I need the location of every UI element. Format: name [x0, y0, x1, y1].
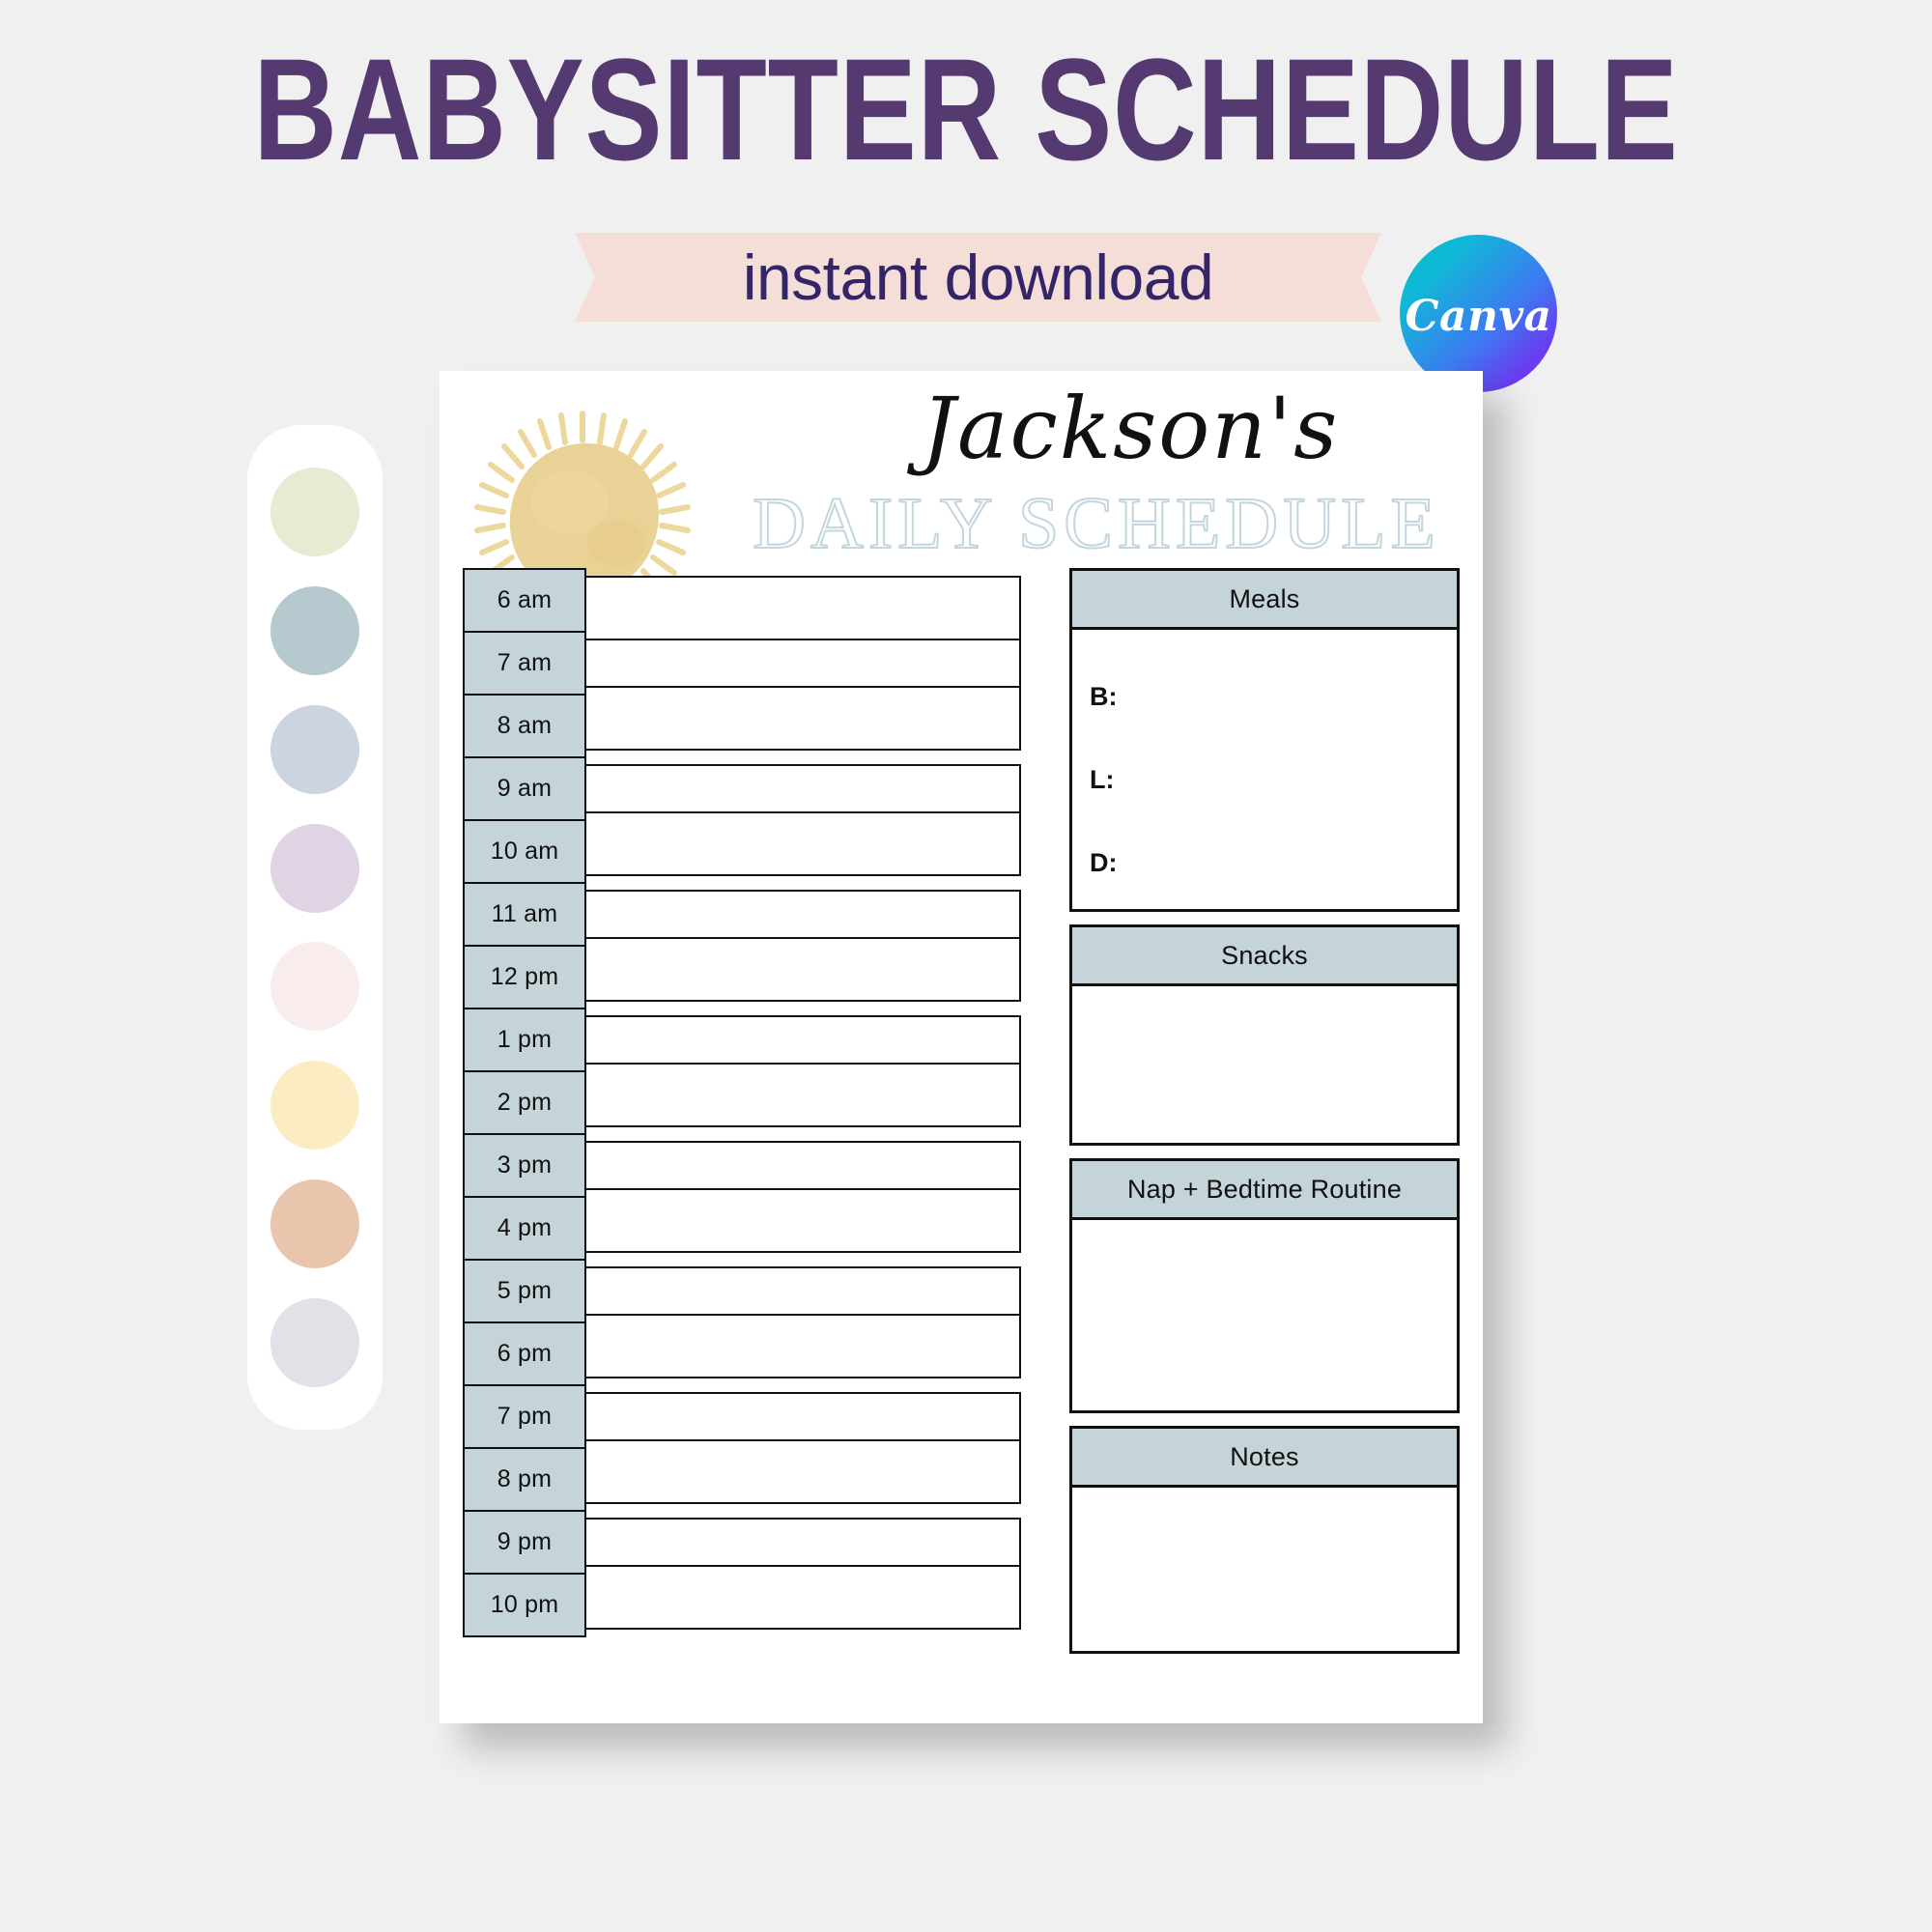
time-label: 11 am	[463, 882, 586, 947]
instant-download-label: instant download	[575, 233, 1381, 322]
color-swatch-blush-white	[270, 942, 359, 1031]
time-label: 8 pm	[463, 1447, 586, 1512]
time-label: 3 pm	[463, 1133, 586, 1198]
meal-label-breakfast: B:	[1090, 682, 1118, 712]
table-row[interactable]: 12 pm	[463, 945, 1021, 1009]
panel-header-notes: Notes	[1069, 1426, 1460, 1488]
panel-header-snacks: Snacks	[1069, 924, 1460, 986]
panel-body-snacks[interactable]	[1069, 986, 1460, 1146]
table-row[interactable]: 4 pm	[463, 1196, 1021, 1261]
time-entry-input[interactable]	[586, 937, 1021, 1002]
color-swatch-pale-sage	[270, 468, 359, 556]
canva-badge-label: Canva	[1400, 235, 1557, 392]
panel-body-notes[interactable]	[1069, 1488, 1460, 1654]
time-entry-input[interactable]	[586, 1314, 1021, 1378]
child-name-title: Jackson's	[816, 384, 1444, 473]
time-entry-input[interactable]	[586, 1439, 1021, 1504]
planner-card: Jackson's DAILY SCHEDULE 6 am 7 am 8 am …	[440, 371, 1483, 1723]
table-row[interactable]: 6 am	[463, 568, 1021, 633]
time-label: 8 am	[463, 694, 586, 758]
time-entry-input[interactable]	[586, 1188, 1021, 1253]
panel-body-meals[interactable]: B: L: D:	[1069, 630, 1460, 912]
time-entry-input[interactable]	[586, 1565, 1021, 1630]
panel-divider-gap	[1069, 1146, 1460, 1158]
time-label: 1 pm	[463, 1008, 586, 1072]
table-row[interactable]: 2 pm	[463, 1070, 1021, 1135]
listing-canvas: BABYSITTER SCHEDULE instant download Can…	[0, 0, 1932, 1932]
time-entry-input[interactable]	[586, 811, 1021, 876]
panel-header-meals: Meals	[1069, 568, 1460, 630]
color-swatch-cool-grey	[270, 1298, 359, 1387]
color-palette-strip	[247, 425, 383, 1430]
hourly-schedule-table: 6 am 7 am 8 am 9 am 10 am 11 am	[463, 568, 1021, 1635]
meal-label-dinner: D:	[1090, 848, 1118, 878]
time-label: 7 pm	[463, 1384, 586, 1449]
table-row[interactable]: 8 pm	[463, 1447, 1021, 1512]
time-label: 4 pm	[463, 1196, 586, 1261]
time-label: 2 pm	[463, 1070, 586, 1135]
color-swatch-periwinkle-grey	[270, 705, 359, 794]
page-title: BABYSITTER SCHEDULE	[193, 37, 1739, 182]
table-row[interactable]: 8 am	[463, 694, 1021, 758]
time-label: 6 pm	[463, 1321, 586, 1386]
time-label: 6 am	[463, 568, 586, 633]
color-swatch-soft-lilac	[270, 824, 359, 913]
color-swatch-warm-peach	[270, 1179, 359, 1268]
time-entry-input[interactable]	[586, 686, 1021, 751]
panel-divider-gap	[1069, 912, 1460, 924]
table-row[interactable]: 6 pm	[463, 1321, 1021, 1386]
time-label: 10 pm	[463, 1573, 586, 1637]
time-label: 5 pm	[463, 1259, 586, 1323]
time-entry-input[interactable]	[586, 1063, 1021, 1127]
meal-label-lunch: L:	[1090, 765, 1114, 795]
color-swatch-dusty-blue	[270, 586, 359, 675]
table-row[interactable]: 10 pm	[463, 1573, 1021, 1637]
time-label: 9 pm	[463, 1510, 586, 1575]
table-row[interactable]: 10 am	[463, 819, 1021, 884]
panel-body-nap-bedtime[interactable]	[1069, 1220, 1460, 1413]
panel-header-nap-bedtime: Nap + Bedtime Routine	[1069, 1158, 1460, 1220]
side-panel-stack: Meals B: L: D: Snacks Nap + Bedtime Rout…	[1069, 568, 1460, 1654]
planner-subtitle: DAILY SCHEDULE	[729, 487, 1463, 560]
time-label: 10 am	[463, 819, 586, 884]
color-swatch-butter-yellow	[270, 1061, 359, 1150]
time-label: 7 am	[463, 631, 586, 696]
time-entry-input[interactable]	[586, 576, 1021, 640]
panel-divider-gap	[1069, 1413, 1460, 1426]
time-label: 9 am	[463, 756, 586, 821]
time-label: 12 pm	[463, 945, 586, 1009]
